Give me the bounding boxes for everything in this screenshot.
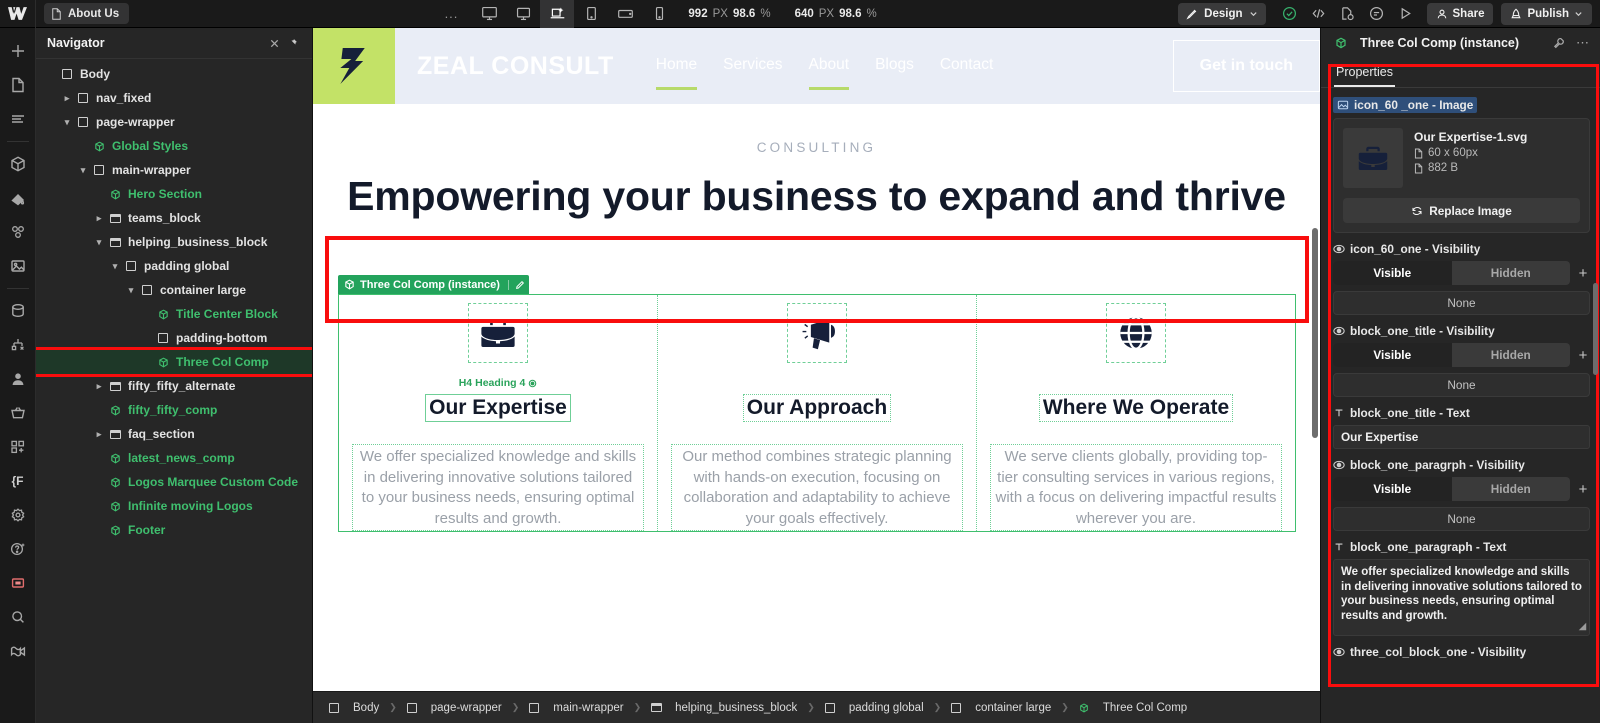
chevron-down-icon bbox=[1574, 9, 1583, 18]
rocket-icon bbox=[1510, 8, 1522, 20]
megaphone-icon-glyph bbox=[796, 312, 838, 354]
component-icon bbox=[154, 309, 172, 320]
style-panel-paint-bucket-icon[interactable] bbox=[0, 181, 36, 215]
image-icon bbox=[1337, 99, 1349, 111]
navigator-item-logos-marquee-custom-code[interactable]: ▸Logos Marquee Custom Code bbox=[36, 470, 312, 494]
page-tab-about-us[interactable]: About Us bbox=[44, 3, 129, 24]
breakpoint-switcher bbox=[472, 0, 676, 28]
add-condition-plus-icon[interactable]: + bbox=[1576, 348, 1590, 363]
page-settings-icon[interactable] bbox=[1335, 2, 1361, 26]
properties-panel-header: Three Col Comp (instance) ⋯ bbox=[1321, 28, 1600, 58]
canvas-scrollbar[interactable] bbox=[1312, 228, 1318, 438]
ecommerce-panel-basket-icon[interactable] bbox=[0, 396, 36, 430]
navigator-item-label: padding-bottom bbox=[176, 331, 267, 345]
size-2-value[interactable]: 640 bbox=[795, 8, 814, 20]
navigator-item-label: fifty_fifty_comp bbox=[128, 403, 217, 417]
breadcrumb-item-main-wrapper[interactable]: main-wrapper bbox=[523, 702, 633, 714]
nav-link-about[interactable]: About bbox=[809, 56, 850, 76]
briefcase-icon bbox=[1355, 140, 1391, 176]
section-icon bbox=[106, 430, 124, 439]
nav-link-blogs[interactable]: Blogs bbox=[875, 56, 914, 76]
navigator-item-label: container large bbox=[160, 283, 246, 297]
three-col-grid: H4 Heading 4 Our Expertise We offer spec… bbox=[338, 294, 1296, 532]
nav-link-label: Blogs bbox=[875, 56, 914, 73]
code-icon[interactable] bbox=[1306, 2, 1332, 26]
visibility-option-hidden[interactable]: Hidden bbox=[1452, 343, 1571, 367]
breadcrumb-item-label: Body bbox=[353, 702, 379, 714]
breadcrumb-separator: ❯ bbox=[389, 702, 397, 713]
breakpoint-tablet[interactable] bbox=[574, 0, 608, 28]
property-label-text: block_one_title - Text bbox=[1350, 406, 1470, 420]
properties-list: icon_60 _one - ImageOur Expertise-1.svg6… bbox=[1321, 88, 1600, 723]
add-panel-plus-icon[interactable] bbox=[0, 34, 36, 68]
navigator-item-faq-section[interactable]: ▸faq_section bbox=[36, 422, 312, 446]
property-label: three_col_block_one - Visibility bbox=[1333, 645, 1590, 659]
replace-image-label: Replace Image bbox=[1429, 204, 1512, 218]
properties-tabs: Properties bbox=[1321, 58, 1600, 88]
briefcase-icon-glyph bbox=[477, 312, 519, 354]
h4-prefix: H4 bbox=[459, 377, 472, 389]
three-col-block-one[interactable]: H4 Heading 4 Our Expertise We offer spec… bbox=[339, 295, 658, 531]
component-icon bbox=[154, 357, 172, 368]
refresh-icon bbox=[1411, 205, 1423, 217]
zeal-z-logo-icon[interactable] bbox=[313, 28, 395, 104]
chevron-down-icon bbox=[1249, 9, 1258, 18]
breadcrumb-item-helping-business-block[interactable]: helping_business_block bbox=[645, 702, 807, 714]
property-label: icon_60 _one - Image bbox=[1333, 97, 1477, 113]
block-two-title[interactable]: Our Approach bbox=[743, 394, 891, 422]
three-col-block-two[interactable]: Our Approach Our method combines strateg… bbox=[658, 295, 977, 531]
chevron-down-icon[interactable]: ▾ bbox=[92, 237, 106, 248]
breakpoint-mobile[interactable] bbox=[642, 0, 676, 28]
navigator-item-fifty-fifty-alternate[interactable]: ▸fifty_fifty_alternate bbox=[36, 374, 312, 398]
visibility-option-visible[interactable]: Visible bbox=[1333, 477, 1452, 501]
navigator-item-page-wrapper[interactable]: ▾page-wrapper bbox=[36, 110, 312, 134]
image-property-card: Our Expertise-1.svg60 x 60px882 BReplace… bbox=[1333, 118, 1590, 233]
nav-link-underline bbox=[809, 87, 850, 90]
nav-link-label: Home bbox=[656, 56, 697, 73]
publish-label: Publish bbox=[1527, 8, 1569, 20]
pages-panel-page-icon[interactable] bbox=[0, 68, 36, 102]
visibility-option-hidden[interactable]: Hidden bbox=[1452, 477, 1571, 501]
navigator-item-teams-block[interactable]: ▸teams_block bbox=[36, 206, 312, 230]
chevron-down-icon[interactable]: ▾ bbox=[124, 285, 138, 296]
chevron-right-icon[interactable]: ▸ bbox=[92, 429, 106, 440]
site-menu: HomeServicesAboutBlogsContact bbox=[614, 28, 994, 104]
top-toolbar: About Us ... 992 PX bbox=[0, 0, 1600, 28]
navigator-item-label: main-wrapper bbox=[112, 163, 191, 177]
section-icon bbox=[647, 703, 665, 712]
block-icon bbox=[90, 165, 108, 175]
eye-icon bbox=[1333, 459, 1345, 471]
breadcrumb-item-container-large[interactable]: container large bbox=[945, 702, 1061, 714]
close-icon[interactable] bbox=[265, 34, 283, 52]
block-icon bbox=[403, 703, 421, 713]
size-1-zoom[interactable]: 98.6 bbox=[733, 8, 755, 20]
replace-image-button[interactable]: Replace Image bbox=[1343, 198, 1580, 223]
chevron-down-icon[interactable]: ▾ bbox=[60, 117, 74, 128]
properties-panel: Three Col Comp (instance) ⋯ Properties i… bbox=[1320, 28, 1600, 723]
visibility-option-hidden[interactable]: Hidden bbox=[1452, 261, 1571, 285]
block-icon bbox=[821, 703, 839, 713]
nav-link-underline bbox=[656, 87, 697, 90]
component-icon bbox=[106, 453, 124, 464]
textarea-value: We offer specialized knowledge and skill… bbox=[1341, 566, 1582, 622]
block-icon bbox=[154, 333, 172, 343]
site-canvas[interactable]: ZEAL CONSULT HomeServicesAboutBlogsConta… bbox=[313, 28, 1320, 691]
chevron-down-icon[interactable]: ▾ bbox=[108, 261, 122, 272]
globe-grid-icon-glyph bbox=[1115, 312, 1157, 354]
nav-link-label: About bbox=[809, 56, 850, 73]
visibility-condition-select[interactable]: None bbox=[1333, 373, 1590, 397]
navigator-item-fifty-fifty-comp[interactable]: ▸fifty_fifty_comp bbox=[36, 398, 312, 422]
navigator-item-label: teams_block bbox=[128, 211, 201, 225]
left-toolbar-rail: {F bbox=[0, 28, 36, 723]
component-icon bbox=[106, 501, 124, 512]
audit-check-icon[interactable] bbox=[1277, 2, 1303, 26]
breadcrumb-item-padding-global[interactable]: padding global bbox=[819, 702, 934, 714]
components-panel-cube-icon[interactable] bbox=[0, 147, 36, 181]
breadcrumb-separator: ❯ bbox=[807, 702, 815, 713]
text-property-input[interactable]: Our Expertise bbox=[1333, 425, 1590, 449]
interactions-panel-gear-icon[interactable] bbox=[0, 498, 36, 532]
component-icon bbox=[106, 405, 124, 416]
component-icon bbox=[1332, 37, 1350, 49]
navigator-item-padding-bottom[interactable]: ▸padding-bottom bbox=[36, 326, 312, 350]
design-mode-label: Design bbox=[1204, 8, 1242, 20]
component-dot-icon bbox=[528, 379, 537, 388]
block-two-paragraph[interactable]: Our method combines strategic planning w… bbox=[671, 444, 964, 531]
comments-icon[interactable] bbox=[1364, 2, 1390, 26]
chevron-right-icon[interactable]: ▸ bbox=[92, 213, 106, 224]
navigator-title: Navigator bbox=[47, 36, 265, 50]
segmented-options: VisibleHidden bbox=[1333, 343, 1570, 367]
navigator-item-label: Footer bbox=[128, 523, 165, 537]
breakpoint-sizes: 992 PX 98.6 % 640 PX 98.6 % bbox=[688, 8, 876, 20]
navigator-item-label: faq_section bbox=[128, 427, 195, 441]
navigator-header: Navigator bbox=[36, 28, 312, 59]
breadcrumb-item-body[interactable]: Body bbox=[323, 702, 389, 714]
textarea-property-input[interactable]: We offer specialized knowledge and skill… bbox=[1333, 559, 1590, 636]
component-badge-label: Three Col Comp (instance) bbox=[360, 279, 500, 291]
segmented-options: VisibleHidden bbox=[1333, 261, 1570, 285]
eye-icon bbox=[1333, 325, 1345, 337]
navigator-item-latest-news-comp[interactable]: ▸latest_news_comp bbox=[36, 446, 312, 470]
breadcrumb-item-label: container large bbox=[975, 702, 1051, 714]
visibility-condition-select[interactable]: None bbox=[1333, 291, 1590, 315]
block-icon bbox=[122, 261, 140, 271]
selection-highlight-navigator bbox=[36, 347, 312, 377]
size-2-unit: PX bbox=[819, 8, 834, 20]
breadcrumb-item-label: main-wrapper bbox=[553, 702, 623, 714]
more-dots-icon[interactable]: ⋯ bbox=[1574, 35, 1592, 51]
section-icon bbox=[106, 214, 124, 223]
share-button[interactable]: Share bbox=[1427, 3, 1494, 25]
resize-grip-icon[interactable]: ◢ bbox=[1579, 619, 1586, 634]
variables-panel-drops-icon[interactable] bbox=[0, 215, 36, 249]
nav-link-label: Contact bbox=[940, 56, 993, 73]
breadcrumb-item-page-wrapper[interactable]: page-wrapper bbox=[401, 702, 512, 714]
navigator-item-label: Three Col Comp bbox=[176, 355, 269, 369]
webflow-logo-icon[interactable] bbox=[0, 0, 36, 28]
site-navbar: ZEAL CONSULT HomeServicesAboutBlogsConta… bbox=[313, 28, 1320, 104]
rail-divider bbox=[7, 141, 29, 142]
size-2-percent: % bbox=[866, 8, 876, 20]
publish-button[interactable]: Publish bbox=[1501, 3, 1592, 25]
breakpoint-desktop-large[interactable] bbox=[472, 0, 506, 28]
share-label: Share bbox=[1453, 8, 1485, 20]
ai-panel-question-sparkle-icon[interactable] bbox=[0, 532, 36, 566]
globe-grid-icon[interactable] bbox=[1106, 303, 1166, 363]
breadcrumb-item-label: Three Col Comp bbox=[1103, 702, 1187, 714]
get-in-touch-button[interactable]: Get in touch bbox=[1173, 40, 1320, 92]
apps-panel-icon[interactable] bbox=[0, 430, 36, 464]
site-brand-name: ZEAL CONSULT bbox=[395, 28, 614, 104]
navigator-item-label: helping_business_block bbox=[128, 235, 267, 249]
search-panel-search-icon[interactable] bbox=[0, 600, 36, 634]
navigator-item-label: Global Styles bbox=[112, 139, 188, 153]
navigator-item-body[interactable]: ▸Body bbox=[36, 62, 312, 86]
section-heading: Empowering your business to expand and t… bbox=[313, 173, 1320, 220]
component-icon bbox=[106, 189, 124, 200]
navbar-right: Get in touch bbox=[1173, 28, 1320, 104]
navigator-item-label: Infinite moving Logos bbox=[128, 499, 253, 513]
navigator-panel-layers-icon[interactable] bbox=[0, 102, 36, 136]
eye-icon bbox=[1333, 243, 1345, 255]
block-one-paragraph[interactable]: We offer specialized knowledge and skill… bbox=[352, 444, 645, 531]
navigator-panel: Navigator ▸Body▸nav_fixed▾page-wrapper▸G… bbox=[36, 28, 313, 723]
person-icon bbox=[1436, 8, 1448, 20]
pencil-icon[interactable] bbox=[508, 280, 525, 290]
more-options-icon[interactable]: ... bbox=[431, 6, 473, 21]
property-label-text: icon_60_one - Visibility bbox=[1350, 242, 1480, 256]
breadcrumb-item-label: padding global bbox=[849, 702, 924, 714]
navigator-item-label: page-wrapper bbox=[96, 115, 175, 129]
nav-link-home[interactable]: Home bbox=[656, 56, 697, 76]
visibility-segmented-control: VisibleHidden+ bbox=[1333, 477, 1590, 501]
properties-scrollbar[interactable] bbox=[1593, 283, 1598, 375]
size-1-value[interactable]: 992 bbox=[688, 8, 707, 20]
eye-icon bbox=[1333, 646, 1345, 658]
breadcrumb-separator: ❯ bbox=[1061, 702, 1069, 713]
size-1-unit: PX bbox=[713, 8, 728, 20]
breakpoint-laptop[interactable] bbox=[540, 0, 574, 28]
three-col-block-three[interactable]: Where We Operate We serve clients global… bbox=[977, 295, 1295, 531]
size-2-zoom[interactable]: 98.6 bbox=[839, 8, 861, 20]
block-three-title[interactable]: Where We Operate bbox=[1039, 394, 1233, 422]
brush-icon bbox=[1186, 8, 1198, 20]
visibility-option-visible[interactable]: Visible bbox=[1333, 261, 1452, 285]
briefcase-icon[interactable] bbox=[468, 303, 528, 363]
property-label-text: block_one_paragrph - Visibility bbox=[1350, 458, 1525, 472]
image-thumbnail[interactable] bbox=[1343, 128, 1403, 188]
properties-panel-title: Three Col Comp (instance) bbox=[1360, 36, 1544, 50]
breadcrumb: Body❯page-wrapper❯main-wrapper❯helping_b… bbox=[313, 691, 1320, 723]
navigator-tree: ▸Body▸nav_fixed▾page-wrapper▸Global Styl… bbox=[36, 59, 312, 723]
property-label-text: icon_60 _one - Image bbox=[1354, 98, 1473, 112]
navigator-item-label: Logos Marquee Custom Code bbox=[128, 475, 298, 489]
block-one-title[interactable]: Our Expertise bbox=[425, 394, 571, 422]
text-t-icon bbox=[1333, 541, 1345, 553]
block-icon bbox=[525, 703, 543, 713]
property-label-text: block_one_title - Visibility bbox=[1350, 324, 1495, 338]
property-label: block_one_title - Text bbox=[1333, 406, 1590, 420]
component-icon bbox=[106, 525, 124, 536]
assets-panel-image-icon[interactable] bbox=[0, 249, 36, 283]
preview-icon[interactable] bbox=[1393, 2, 1419, 26]
navigator-item-padding-global[interactable]: ▾padding global bbox=[36, 254, 312, 278]
image-file-name: Our Expertise-1.svg bbox=[1414, 130, 1527, 144]
block-icon bbox=[947, 703, 965, 713]
add-condition-plus-icon[interactable]: + bbox=[1576, 482, 1590, 497]
chevron-down-icon[interactable]: ▾ bbox=[76, 165, 90, 176]
three-col-component[interactable]: Three Col Comp (instance) bbox=[338, 294, 1296, 532]
video-panel-icon[interactable] bbox=[0, 634, 36, 668]
h4-label: Heading 4 bbox=[475, 377, 525, 389]
breadcrumb-item-label: helping_business_block bbox=[675, 702, 797, 714]
component-icon bbox=[106, 477, 124, 488]
canvas-area: ZEAL CONSULT HomeServicesAboutBlogsConta… bbox=[313, 28, 1320, 723]
visibility-segmented-control: VisibleHidden+ bbox=[1333, 343, 1590, 367]
property-label-text: block_one_paragraph - Text bbox=[1350, 540, 1506, 554]
navigator-item-container-large[interactable]: ▾container large bbox=[36, 278, 312, 302]
breadcrumb-separator: ❯ bbox=[512, 702, 520, 713]
navigator-item-label: latest_news_comp bbox=[128, 451, 235, 465]
users-panel-person-icon[interactable] bbox=[0, 362, 36, 396]
megaphone-icon[interactable] bbox=[787, 303, 847, 363]
pin-icon[interactable] bbox=[283, 34, 301, 52]
component-icon bbox=[90, 141, 108, 152]
breadcrumb-separator: ❯ bbox=[934, 702, 942, 713]
visibility-option-visible[interactable]: Visible bbox=[1333, 343, 1452, 367]
navigator-item-footer[interactable]: ▸Footer bbox=[36, 518, 312, 542]
section-icon bbox=[106, 382, 124, 391]
block-icon bbox=[58, 69, 76, 79]
navigator-item-title-center-block[interactable]: ▸Title Center Block bbox=[36, 302, 312, 326]
breadcrumb-separator: ❯ bbox=[634, 702, 642, 713]
add-condition-plus-icon[interactable]: + bbox=[1576, 266, 1590, 281]
logic-panel-icon[interactable] bbox=[0, 328, 36, 362]
section-icon bbox=[106, 238, 124, 247]
nav-link-services[interactable]: Services bbox=[723, 56, 782, 76]
audit-panel-icon[interactable] bbox=[0, 566, 36, 600]
navigator-item-label: nav_fixed bbox=[96, 91, 151, 105]
nav-link-contact[interactable]: Contact bbox=[940, 56, 993, 76]
page-tab-label: About Us bbox=[68, 8, 119, 20]
visibility-segmented-control: VisibleHidden+ bbox=[1333, 261, 1590, 285]
property-label: block_one_title - Visibility bbox=[1333, 324, 1590, 338]
property-label-text: three_col_block_one - Visibility bbox=[1350, 645, 1526, 659]
navigator-item-nav-fixed[interactable]: ▸nav_fixed bbox=[36, 86, 312, 110]
navigator-item-infinite-moving-logos[interactable]: ▸Infinite moving Logos bbox=[36, 494, 312, 518]
wrench-icon[interactable] bbox=[1550, 37, 1568, 49]
breakpoint-mobile-landscape[interactable] bbox=[608, 0, 642, 28]
navigator-item-label: Body bbox=[80, 67, 110, 81]
component-icon bbox=[344, 279, 355, 290]
design-mode-button[interactable]: Design bbox=[1178, 3, 1265, 25]
breadcrumb-item-three-col-comp[interactable]: Three Col Comp bbox=[1073, 702, 1197, 714]
navigator-item-main-wrapper[interactable]: ▾main-wrapper bbox=[36, 158, 312, 182]
chevron-right-icon[interactable]: ▸ bbox=[92, 381, 106, 392]
navigator-item-helping-business-block[interactable]: ▾helping_business_block bbox=[36, 230, 312, 254]
component-icon bbox=[1075, 703, 1093, 713]
tab-properties[interactable]: Properties bbox=[1334, 58, 1395, 87]
localization-panel-icon[interactable]: {F bbox=[0, 464, 36, 498]
navigator-item-label: fifty_fifty_alternate bbox=[128, 379, 235, 393]
navigator-item-hero-section[interactable]: ▸Hero Section bbox=[36, 182, 312, 206]
image-dimensions: 60 x 60px bbox=[1414, 147, 1527, 159]
block-icon bbox=[74, 93, 92, 103]
block-icon bbox=[138, 285, 156, 295]
chevron-right-icon[interactable]: ▸ bbox=[60, 93, 74, 104]
component-instance-badge[interactable]: Three Col Comp (instance) bbox=[338, 275, 529, 294]
segmented-options: VisibleHidden bbox=[1333, 477, 1570, 501]
cms-panel-database-icon[interactable] bbox=[0, 294, 36, 328]
page-icon bbox=[51, 8, 62, 20]
section-eyebrow: CONSULTING bbox=[313, 140, 1320, 155]
visibility-condition-select[interactable]: None bbox=[1333, 507, 1590, 531]
navigator-item-global-styles[interactable]: ▸Global Styles bbox=[36, 134, 312, 158]
breadcrumb-item-label: page-wrapper bbox=[431, 702, 502, 714]
block-icon bbox=[74, 117, 92, 127]
text-t-icon bbox=[1333, 407, 1345, 419]
webflow-designer: About Us ... 992 PX bbox=[0, 0, 1600, 723]
image-file-size: 882 B bbox=[1414, 162, 1527, 174]
nav-link-label: Services bbox=[723, 56, 782, 73]
rail-divider bbox=[7, 288, 29, 289]
block-icon bbox=[325, 703, 343, 713]
property-label: block_one_paragraph - Text bbox=[1333, 540, 1590, 554]
size-1-percent: % bbox=[760, 8, 770, 20]
block-three-paragraph[interactable]: We serve clients globally, providing top… bbox=[990, 444, 1283, 531]
navigator-item-label: Hero Section bbox=[128, 187, 202, 201]
navigator-item-label: Title Center Block bbox=[176, 307, 278, 321]
navigator-item-three-col-comp[interactable]: ▸Three Col Comp bbox=[36, 350, 312, 374]
property-label: block_one_paragrph - Visibility bbox=[1333, 458, 1590, 472]
navigator-item-label: padding global bbox=[144, 259, 229, 273]
breakpoint-desktop[interactable] bbox=[506, 0, 540, 28]
heading-4-tag: H4 Heading 4 bbox=[459, 377, 538, 389]
property-label: icon_60_one - Visibility bbox=[1333, 242, 1590, 256]
